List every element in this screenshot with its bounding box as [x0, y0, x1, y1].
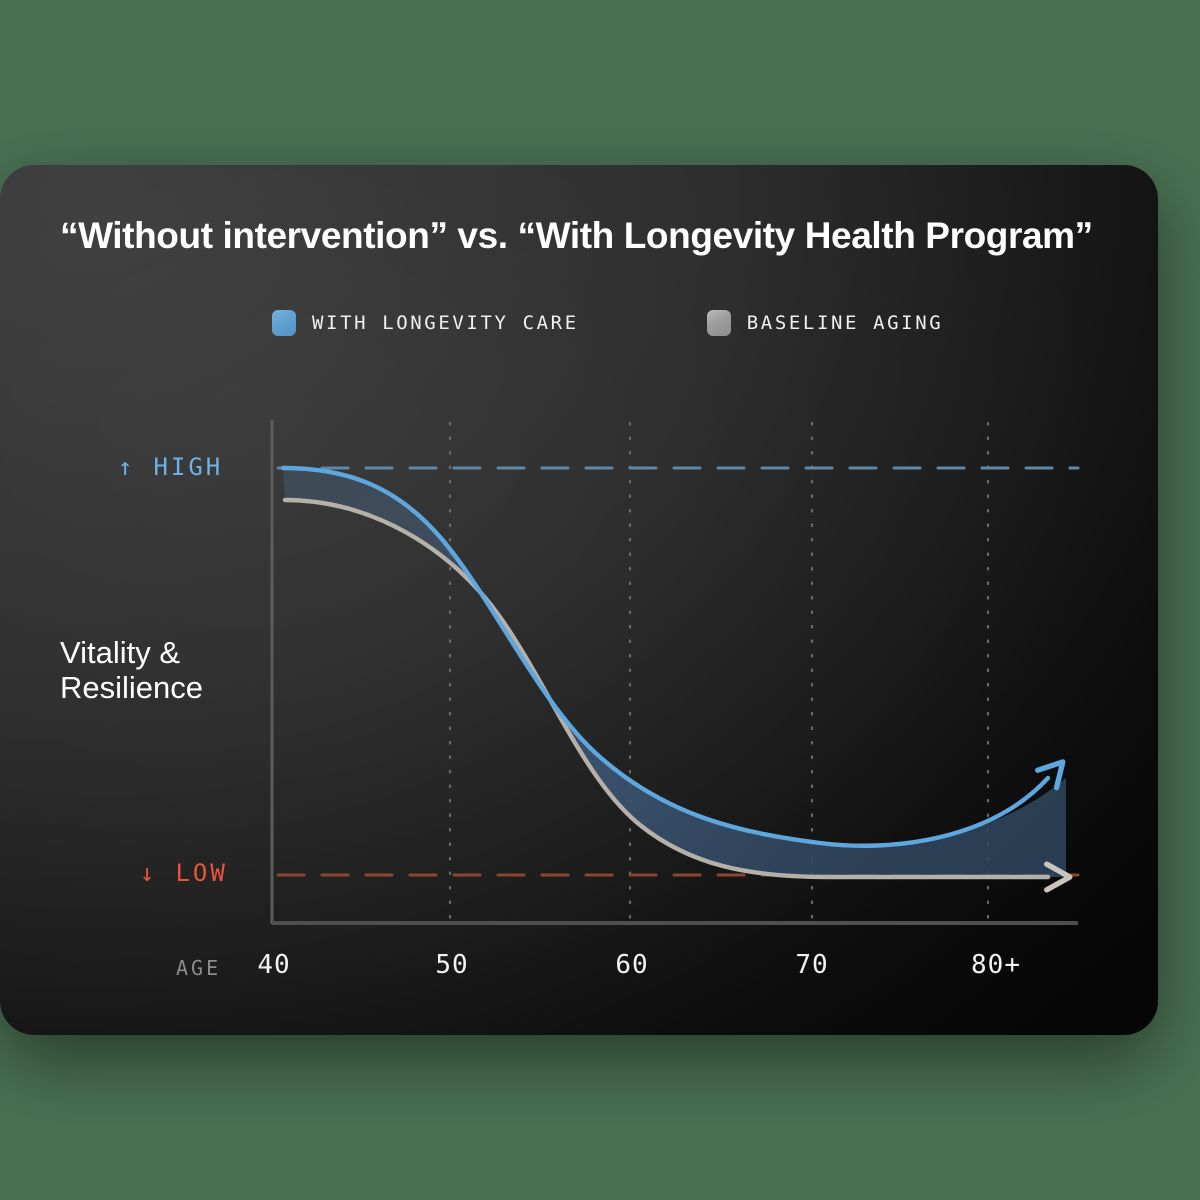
y-axis-low-label: ↓LOW — [140, 859, 228, 887]
screenshot-root: “Without intervention” vs. “With Longevi… — [0, 0, 1200, 1200]
x-tick-60: 60 — [615, 950, 648, 980]
x-tick-40: 40 — [257, 950, 290, 980]
plot-glow — [0, 165, 1158, 1035]
arrow-up-icon: ↑ — [118, 453, 135, 481]
chart-card: “Without intervention” vs. “With Longevi… — [0, 165, 1158, 1035]
x-tick-50: 50 — [435, 950, 468, 980]
y-axis-high-label: ↑HIGH — [118, 453, 223, 481]
y-axis-title: Vitality & Resilience — [60, 635, 275, 705]
x-axis-ticks: 40 50 60 70 80+ — [0, 950, 1158, 990]
y-axis-title-line-1: Vitality & — [60, 635, 275, 670]
y-axis-title-line-2: Resilience — [60, 670, 275, 705]
x-tick-80plus: 80+ — [971, 950, 1021, 980]
y-axis-low-text: LOW — [175, 859, 227, 887]
chart-plot-area — [0, 165, 1158, 1035]
x-tick-70: 70 — [795, 950, 828, 980]
arrow-down-icon: ↓ — [140, 859, 157, 887]
y-axis-high-text: HIGH — [153, 453, 223, 481]
